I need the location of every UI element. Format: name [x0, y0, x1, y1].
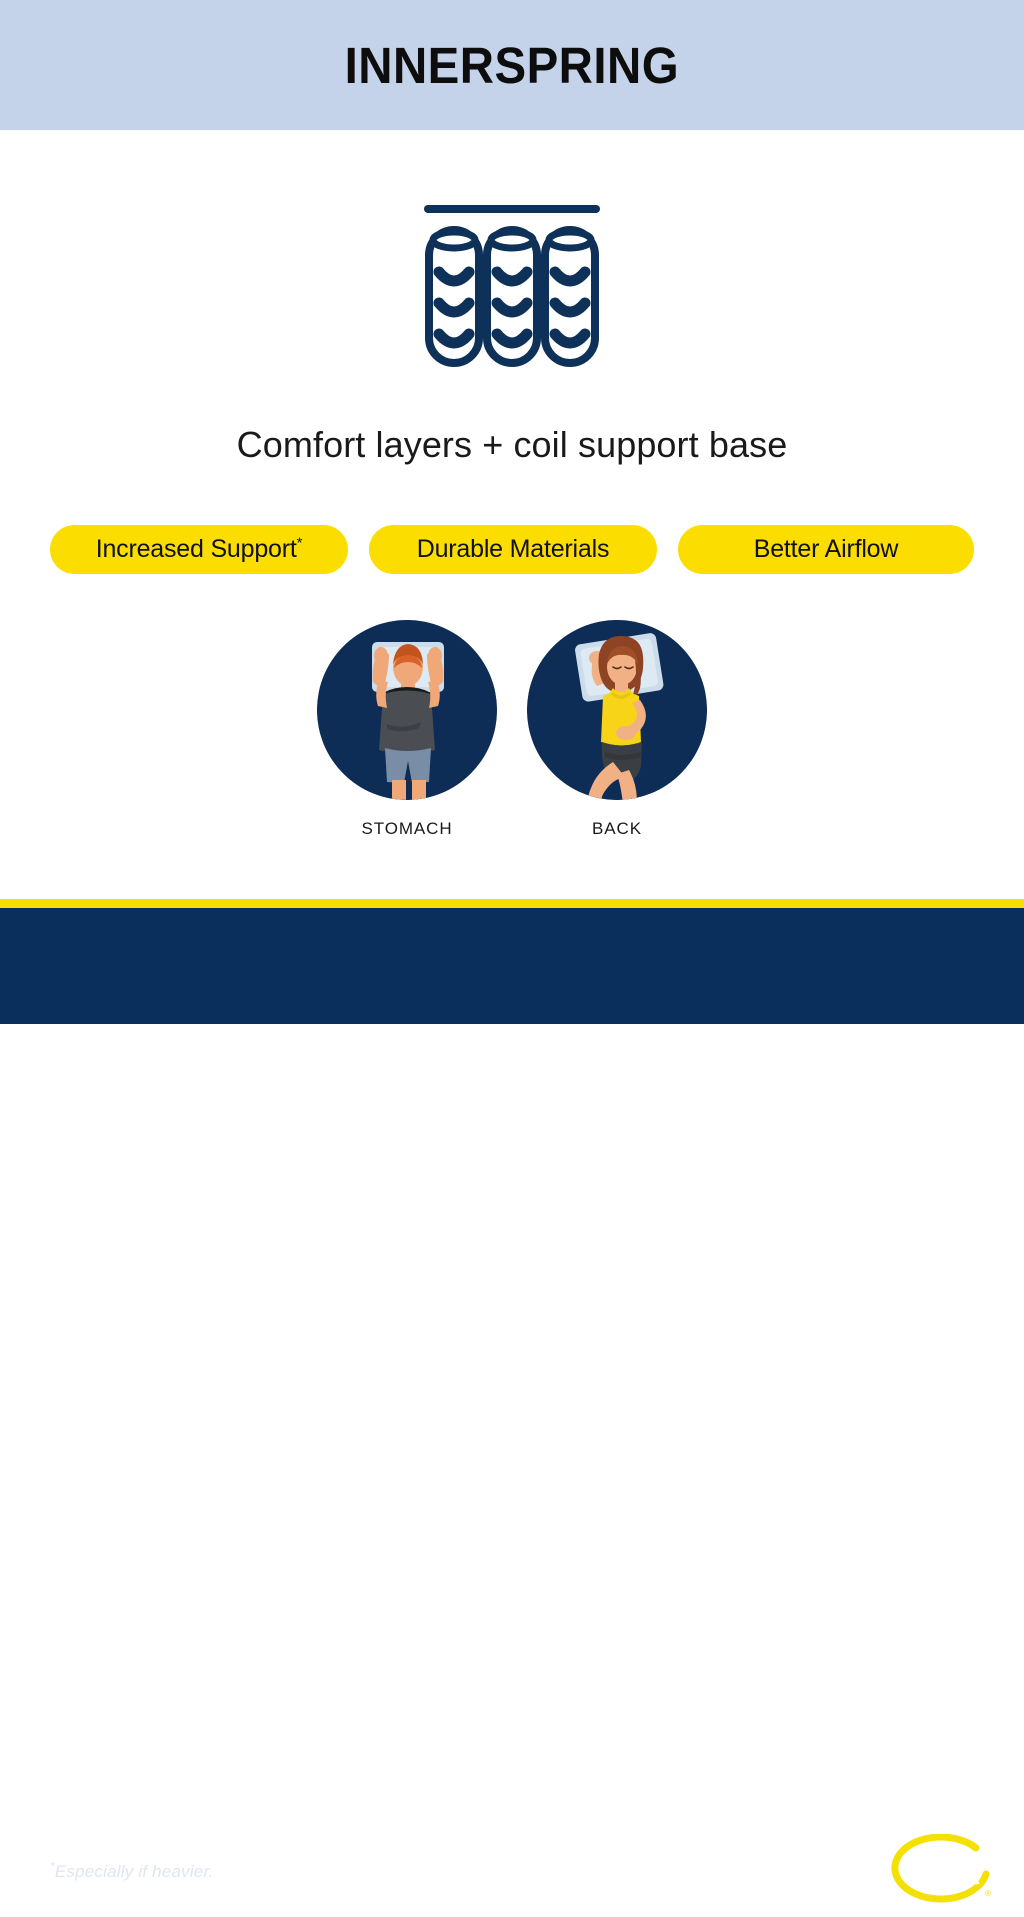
sleep-position-label: BACK — [592, 819, 642, 839]
sleep-position-label: STOMACH — [362, 819, 453, 839]
feature-pill-label: Better Airflow — [754, 535, 898, 564]
hero-headline: Comfort layers + coil support base — [0, 424, 1024, 466]
sleep-position-back[interactable]: BACK — [522, 620, 712, 839]
feature-pill-label: Increased Support* — [96, 535, 303, 564]
sleep-position-stomach[interactable]: STOMACH — [312, 620, 502, 839]
feature-pill-increased-support[interactable]: Increased Support* — [50, 525, 348, 574]
back-sleeper-icon — [527, 620, 707, 800]
feature-pill-durable-materials[interactable]: Durable Materials — [369, 525, 657, 574]
serta-logo: Serta ® — [890, 1834, 998, 1912]
footnote-marker: * — [297, 535, 303, 552]
header-band: INNERSPRING — [0, 0, 1024, 130]
coil-stack-icon — [412, 196, 612, 376]
footer-band: *Especially if heavier. Serta ® — [0, 908, 1024, 1024]
footnote-text: *Especially if heavier. — [50, 1862, 214, 1882]
feature-pill-better-airflow[interactable]: Better Airflow — [678, 525, 974, 574]
svg-text:Serta: Serta — [905, 1857, 979, 1891]
footer-accent-rule — [0, 899, 1024, 908]
feature-pill-label: Durable Materials — [417, 535, 610, 564]
page-title: INNERSPRING — [345, 36, 680, 95]
feature-pill-row: Increased Support* Durable Materials Bet… — [50, 525, 974, 574]
stomach-sleeper-icon — [317, 620, 497, 800]
infographic-page: INNERSPRING — [0, 0, 1024, 1024]
svg-text:®: ® — [985, 1889, 991, 1898]
